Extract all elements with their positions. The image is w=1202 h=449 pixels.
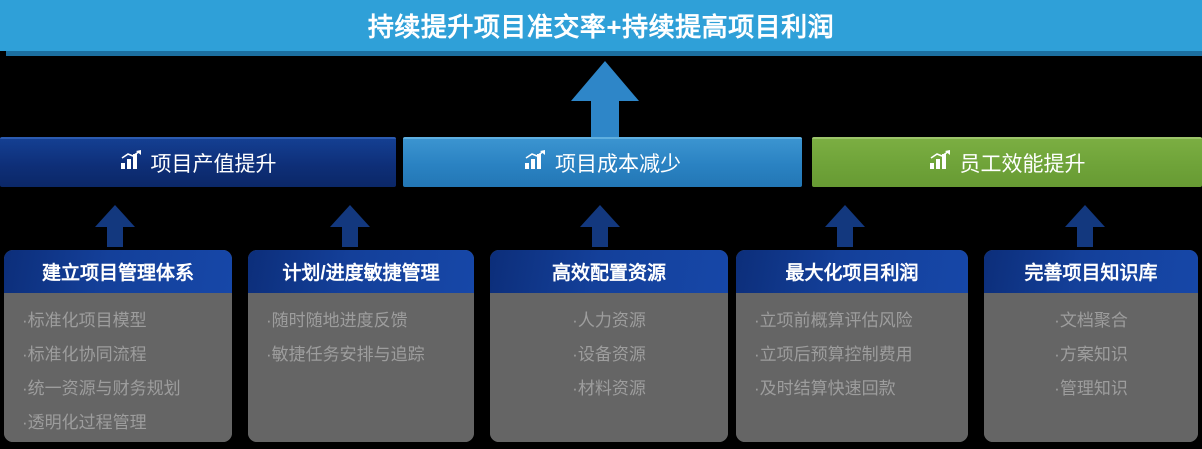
card-item: ·统一资源与财务规划	[22, 377, 181, 401]
card-header: 计划/进度敏捷管理	[248, 250, 474, 293]
connector-arrow-4	[825, 205, 865, 247]
bar-chart-icon	[120, 150, 142, 176]
card-item: ·管理知识	[1054, 377, 1128, 401]
bar-chart-icon	[929, 150, 951, 176]
outcome-bar-project-output[interactable]: 项目产值提升	[0, 137, 396, 187]
card-title: 计划/进度敏捷管理	[282, 258, 439, 285]
card-title: 完善项目知识库	[1024, 258, 1157, 285]
connector-arrow-5	[1065, 205, 1105, 247]
card-item: ·标准化协同流程	[22, 343, 147, 367]
card-header: 建立项目管理体系	[4, 250, 232, 293]
card-maximize-project-profit[interactable]: 最大化项目利润 ·立项前概算评估风险 ·立项后预算控制费用 ·及时结算快速回款	[736, 250, 968, 442]
card-title: 最大化项目利润	[785, 258, 918, 285]
card-item: ·随时随地进度反馈	[266, 309, 408, 333]
card-item: ·及时结算快速回款	[754, 377, 896, 401]
card-item: ·透明化过程管理	[22, 411, 147, 435]
card-body: ·标准化项目模型 ·标准化协同流程 ·统一资源与财务规划 ·透明化过程管理	[4, 293, 232, 442]
card-header: 高效配置资源	[490, 250, 728, 293]
card-body: ·人力资源 ·设备资源 ·材料资源	[490, 293, 728, 442]
card-project-knowledge-base[interactable]: 完善项目知识库 ·文档聚合 ·方案知识 ·管理知识	[984, 250, 1198, 442]
card-efficient-resource-allocation[interactable]: 高效配置资源 ·人力资源 ·设备资源 ·材料资源	[490, 250, 728, 442]
card-item: ·立项前概算评估风险	[754, 309, 913, 333]
card-body: ·立项前概算评估风险 ·立项后预算控制费用 ·及时结算快速回款	[736, 293, 968, 442]
card-body: ·随时随地进度反馈 ·敏捷任务安排与追踪	[248, 293, 474, 442]
outcome-bar-project-cost[interactable]: 项目成本减少	[403, 137, 802, 187]
card-item: ·立项后预算控制费用	[754, 343, 913, 367]
banner-title: 持续提升项目准交率+持续提高项目利润	[368, 7, 834, 44]
card-project-management-system[interactable]: 建立项目管理体系 ·标准化项目模型 ·标准化协同流程 ·统一资源与财务规划 ·透…	[4, 250, 232, 442]
card-header: 最大化项目利润	[736, 250, 968, 293]
bar-chart-icon	[524, 150, 546, 176]
main-up-arrow	[571, 61, 639, 139]
banner-shadow	[6, 51, 1202, 56]
connector-arrow-3	[580, 205, 620, 247]
outcome-bar-label: 员工效能提升	[960, 148, 1086, 178]
card-agile-schedule-management[interactable]: 计划/进度敏捷管理 ·随时随地进度反馈 ·敏捷任务安排与追踪	[248, 250, 474, 442]
outcome-bar-label: 项目成本减少	[555, 148, 681, 178]
card-item: ·敏捷任务安排与追踪	[266, 343, 425, 367]
card-item: ·设备资源	[572, 343, 646, 367]
card-item: ·材料资源	[572, 377, 646, 401]
card-title: 高效配置资源	[552, 258, 666, 285]
outcome-bar-label: 项目产值提升	[151, 148, 277, 178]
card-item: ·方案知识	[1054, 343, 1128, 367]
top-banner: 持续提升项目准交率+持续提高项目利润	[0, 0, 1202, 51]
card-title: 建立项目管理体系	[42, 258, 194, 285]
card-header: 完善项目知识库	[984, 250, 1198, 293]
card-item: ·标准化项目模型	[22, 309, 147, 333]
outcome-bar-staff-efficiency[interactable]: 员工效能提升	[812, 137, 1202, 187]
connector-arrow-2	[330, 205, 370, 247]
card-item: ·文档聚合	[1054, 309, 1128, 333]
card-item: ·人力资源	[572, 309, 646, 333]
card-body: ·文档聚合 ·方案知识 ·管理知识	[984, 293, 1198, 442]
connector-arrow-1	[95, 205, 135, 247]
